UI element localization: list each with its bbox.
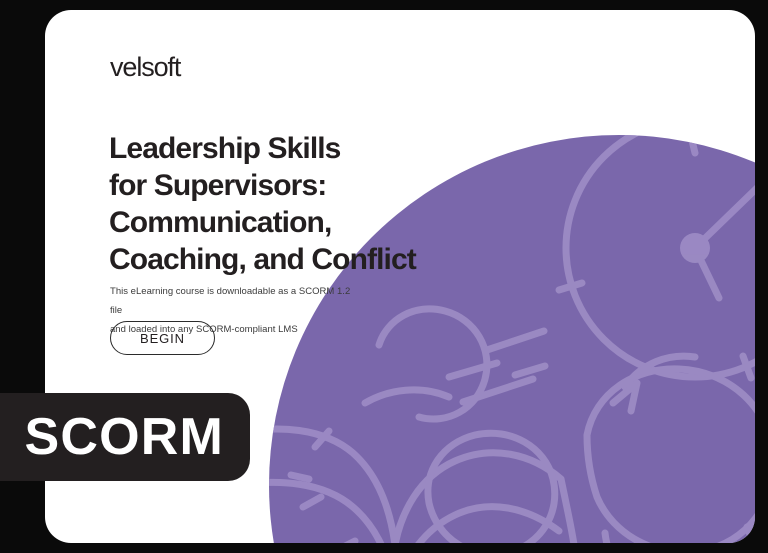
people-group-icon xyxy=(365,309,755,543)
scorm-badge-label: SCORM xyxy=(24,411,224,463)
clock-icon xyxy=(559,135,755,378)
page-title: Leadership Skills for Supervisors: Commu… xyxy=(109,130,479,278)
begin-button[interactable]: BEGIN xyxy=(110,321,215,355)
slide-preview-frame: velsoft Leadership Skills for Supervisor… xyxy=(0,0,768,553)
pointer-line-icon xyxy=(269,541,355,543)
scorm-badge: SCORM xyxy=(0,393,250,481)
sparkle-small-icon xyxy=(269,313,329,507)
brand-logo: velsoft xyxy=(110,52,180,83)
speed-lines-icon xyxy=(449,331,545,402)
